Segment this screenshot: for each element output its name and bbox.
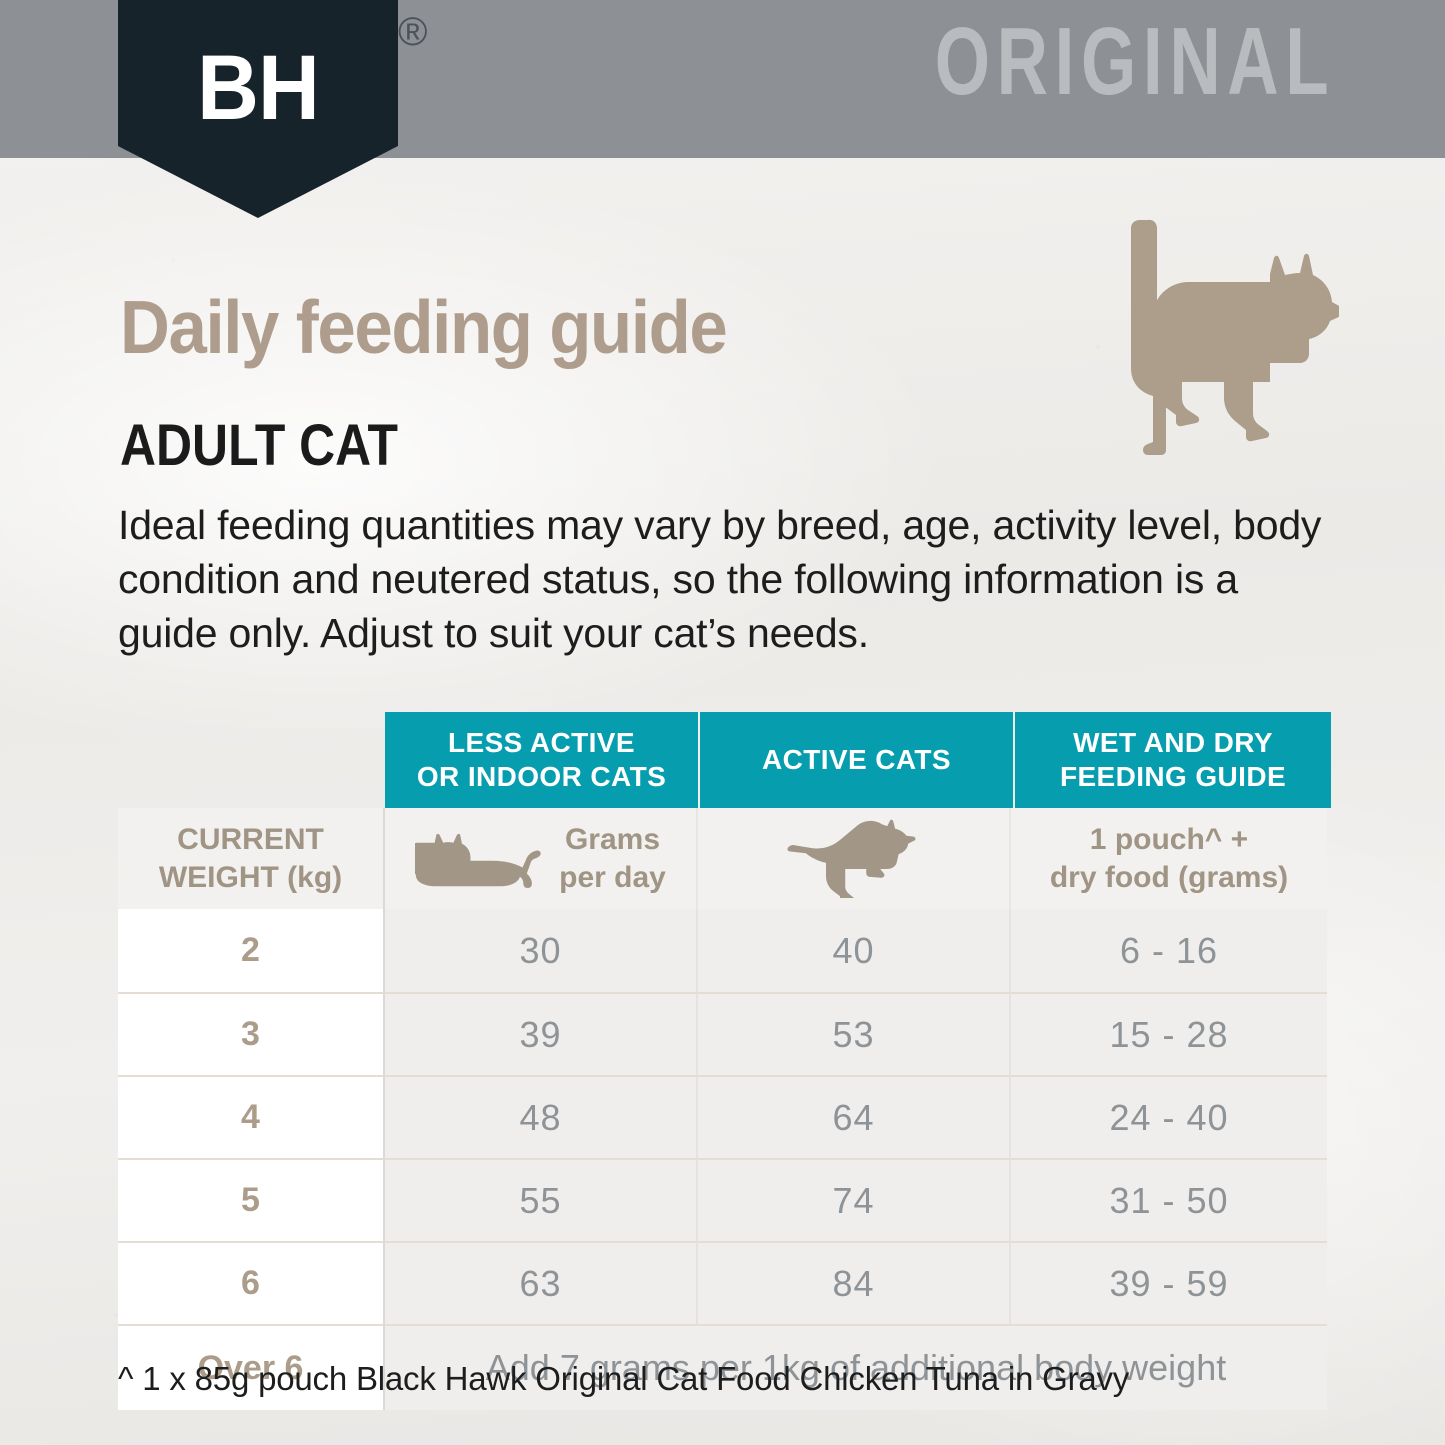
cell-weight: 6 xyxy=(118,1241,385,1324)
cell-active: 74 xyxy=(698,1158,1011,1241)
cell-wet-dry: 39 - 59 xyxy=(1011,1241,1327,1324)
feeding-table: LESS ACTIVE OR INDOOR CATS ACTIVE CATS W… xyxy=(118,712,1327,1410)
group-header-spacer xyxy=(118,712,385,808)
table-sub-header-row: CURRENT WEIGHT (kg) Grams per day xyxy=(118,808,1327,909)
cell-wet-dry: 15 - 28 xyxy=(1011,992,1327,1075)
table-row: 3 39 53 15 - 28 xyxy=(118,992,1327,1075)
sub-header-wet-and-dry-line1: 1 pouch^ + xyxy=(1090,823,1248,856)
table-row: 6 63 84 39 - 59 xyxy=(118,1241,1327,1324)
sub-header-wet-and-dry-line2: dry food (grams) xyxy=(1050,861,1288,894)
cell-less-active: 30 xyxy=(385,909,698,992)
product-range-label: ORIGINAL xyxy=(934,14,1335,110)
sub-header-current-weight-line1: CURRENT xyxy=(177,823,324,856)
sub-header-current-weight: CURRENT WEIGHT (kg) xyxy=(118,808,385,909)
group-header-less-active: LESS ACTIVE OR INDOOR CATS xyxy=(385,712,698,808)
cell-weight: 4 xyxy=(118,1075,385,1158)
sub-header-less-active-line1: Grams xyxy=(565,823,660,856)
running-cat-icon xyxy=(784,819,924,898)
sub-header-wet-and-dry: 1 pouch^ + dry food (grams) xyxy=(1011,808,1327,909)
brand-logo-text: BH xyxy=(128,36,388,141)
sub-header-active-cats xyxy=(698,808,1011,909)
brand-shield: BH xyxy=(118,0,398,218)
group-header-wet-and-dry-line1: WET AND DRY xyxy=(1073,727,1273,758)
cell-less-active: 39 xyxy=(385,992,698,1075)
group-header-less-active-line2: OR INDOOR CATS xyxy=(417,761,666,792)
feeding-guide-page: ORIGINAL BH ® Daily feeding guide ADULT … xyxy=(0,0,1445,1445)
cell-wet-dry: 6 - 16 xyxy=(1011,909,1327,992)
cell-less-active: 63 xyxy=(385,1241,698,1324)
cell-less-active: 48 xyxy=(385,1075,698,1158)
group-header-wet-and-dry-line2: FEEDING GUIDE xyxy=(1060,761,1286,792)
cell-active: 40 xyxy=(698,909,1011,992)
group-header-wet-and-dry: WET AND DRY FEEDING GUIDE xyxy=(1013,712,1331,808)
sub-header-current-weight-line2: WEIGHT (kg) xyxy=(159,861,342,894)
cell-active: 84 xyxy=(698,1241,1011,1324)
table-row: 4 48 64 24 - 40 xyxy=(118,1075,1327,1158)
group-header-active-cats: ACTIVE CATS xyxy=(698,712,1013,808)
table-row: 2 30 40 6 - 16 xyxy=(118,909,1327,992)
lying-cat-icon xyxy=(415,829,543,889)
cell-wet-dry: 24 - 40 xyxy=(1011,1075,1327,1158)
group-header-active-cats-line1: ACTIVE CATS xyxy=(762,743,951,777)
cell-less-active: 55 xyxy=(385,1158,698,1241)
cell-weight: 5 xyxy=(118,1158,385,1241)
cell-weight: 3 xyxy=(118,992,385,1075)
sub-header-less-active: Grams per day xyxy=(385,808,698,909)
sub-header-less-active-line2: per day xyxy=(559,861,666,894)
group-header-less-active-line1: LESS ACTIVE xyxy=(448,727,635,758)
cell-wet-dry: 31 - 50 xyxy=(1011,1158,1327,1241)
registered-trademark-icon: ® xyxy=(398,12,427,52)
cell-active: 53 xyxy=(698,992,1011,1075)
cell-active: 64 xyxy=(698,1075,1011,1158)
page-title: Daily feeding guide xyxy=(120,284,726,370)
standing-cat-icon xyxy=(1124,212,1339,462)
page-subtitle: ADULT CAT xyxy=(120,412,398,479)
table-group-header-row: LESS ACTIVE OR INDOOR CATS ACTIVE CATS W… xyxy=(118,712,1327,808)
intro-paragraph: Ideal feeding quantities may vary by bre… xyxy=(118,498,1333,660)
table-row: 5 55 74 31 - 50 xyxy=(118,1158,1327,1241)
cell-weight: 2 xyxy=(118,909,385,992)
footnote: ^ 1 x 85g pouch Black Hawk Original Cat … xyxy=(118,1360,1129,1398)
